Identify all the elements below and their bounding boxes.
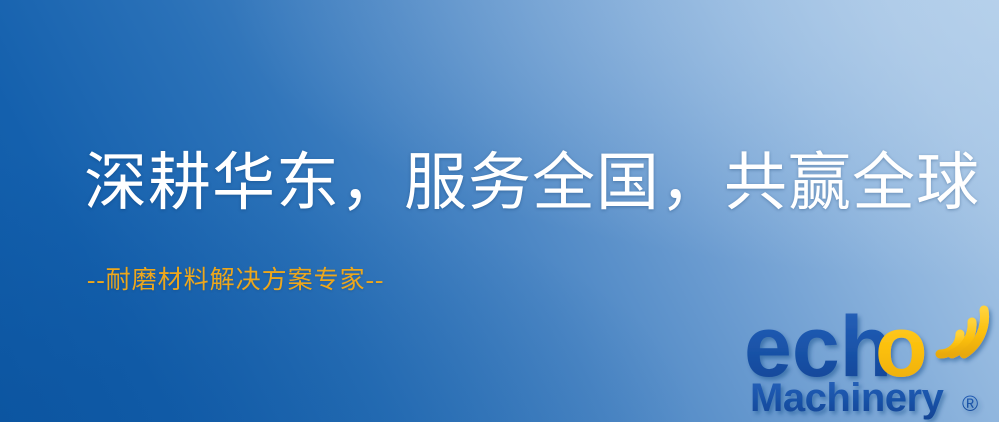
logo-machinery-text: Machinery [750, 376, 945, 420]
promo-banner: 深耕华东，服务全国，共赢全球 --耐磨材料解决方案专家-- [0, 0, 999, 422]
echo-machinery-logo: ech o Machinery ® [744, 296, 999, 422]
logo-tagline: Machinery ® [750, 376, 978, 420]
logo-trademark-symbol: ® [962, 391, 978, 416]
echo-wave-icon [940, 310, 985, 354]
banner-headline: 深耕华东，服务全国，共赢全球 [84, 152, 980, 215]
banner-subtitle: --耐磨材料解决方案专家-- [87, 268, 384, 293]
